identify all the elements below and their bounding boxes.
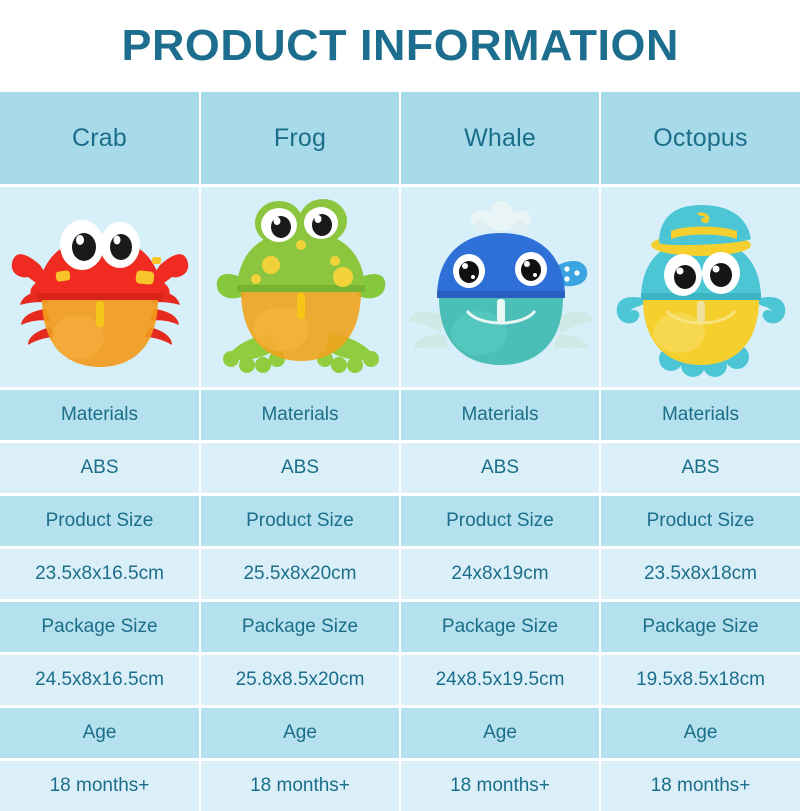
materials-label-crab: Materials bbox=[0, 390, 200, 440]
materials-value-frog: ABS bbox=[200, 443, 400, 493]
age-label-whale: Age bbox=[400, 708, 600, 758]
title-bar: PRODUCT INFORMATION bbox=[0, 0, 800, 92]
age-value-crab: 18 months+ bbox=[0, 761, 200, 811]
column-header-frog: Frog bbox=[200, 92, 400, 184]
age-value-frog: 18 months+ bbox=[200, 761, 400, 811]
product-information-page: PRODUCT INFORMATION Crab Frog Whale Octo… bbox=[0, 0, 800, 800]
table-header-row: Crab Frog Whale Octopus bbox=[0, 92, 800, 184]
age-label-octopus: Age bbox=[600, 708, 800, 758]
product-size-value-frog: 25.5x8x20cm bbox=[200, 549, 400, 599]
package-size-value-row: 24.5x8x16.5cm 25.8x8.5x20cm 24x8.5x19.5c… bbox=[0, 655, 800, 705]
product-image-cell-whale bbox=[400, 187, 600, 387]
product-comparison-table: Crab Frog Whale Octopus bbox=[0, 92, 800, 811]
materials-value-octopus: ABS bbox=[600, 443, 800, 493]
materials-label-row: Materials Materials Materials Materials bbox=[0, 390, 800, 440]
product-size-label-crab: Product Size bbox=[0, 496, 200, 546]
age-value-octopus: 18 months+ bbox=[600, 761, 800, 811]
materials-label-octopus: Materials bbox=[600, 390, 800, 440]
age-label-frog: Age bbox=[200, 708, 400, 758]
product-size-label-whale: Product Size bbox=[400, 496, 600, 546]
materials-label-frog: Materials bbox=[200, 390, 400, 440]
column-header-whale: Whale bbox=[400, 92, 600, 184]
frog-bubble-machine-icon bbox=[201, 187, 401, 387]
package-size-value-crab: 24.5x8x16.5cm bbox=[0, 655, 200, 705]
column-header-crab: Crab bbox=[0, 92, 200, 184]
product-size-label-octopus: Product Size bbox=[600, 496, 800, 546]
column-header-octopus: Octopus bbox=[600, 92, 800, 184]
table-image-row bbox=[0, 187, 800, 387]
age-label-crab: Age bbox=[0, 708, 200, 758]
product-size-label-frog: Product Size bbox=[200, 496, 400, 546]
age-label-row: Age Age Age Age bbox=[0, 708, 800, 758]
product-image-cell-crab bbox=[0, 187, 200, 387]
package-size-label-octopus: Package Size bbox=[600, 602, 800, 652]
product-size-value-row: 23.5x8x16.5cm 25.5x8x20cm 24x8x19cm 23.5… bbox=[0, 549, 800, 599]
product-image-cell-frog bbox=[200, 187, 400, 387]
age-value-whale: 18 months+ bbox=[400, 761, 600, 811]
package-size-value-frog: 25.8x8.5x20cm bbox=[200, 655, 400, 705]
materials-value-row: ABS ABS ABS ABS bbox=[0, 443, 800, 493]
package-size-value-whale: 24x8.5x19.5cm bbox=[400, 655, 600, 705]
crab-bubble-machine-icon bbox=[0, 187, 200, 387]
product-size-value-crab: 23.5x8x16.5cm bbox=[0, 549, 200, 599]
octopus-bubble-machine-icon bbox=[601, 187, 800, 387]
product-size-value-octopus: 23.5x8x18cm bbox=[600, 549, 800, 599]
package-size-label-crab: Package Size bbox=[0, 602, 200, 652]
product-size-value-whale: 24x8x19cm bbox=[400, 549, 600, 599]
product-image-cell-octopus bbox=[600, 187, 800, 387]
product-size-label-row: Product Size Product Size Product Size P… bbox=[0, 496, 800, 546]
materials-label-whale: Materials bbox=[400, 390, 600, 440]
package-size-label-whale: Package Size bbox=[400, 602, 600, 652]
materials-value-whale: ABS bbox=[400, 443, 600, 493]
package-size-label-row: Package Size Package Size Package Size P… bbox=[0, 602, 800, 652]
package-size-label-frog: Package Size bbox=[200, 602, 400, 652]
age-value-row: 18 months+ 18 months+ 18 months+ 18 mont… bbox=[0, 761, 800, 811]
materials-value-crab: ABS bbox=[0, 443, 200, 493]
whale-bubble-machine-icon bbox=[401, 187, 601, 387]
package-size-value-octopus: 19.5x8.5x18cm bbox=[600, 655, 800, 705]
page-title: PRODUCT INFORMATION bbox=[121, 21, 678, 71]
